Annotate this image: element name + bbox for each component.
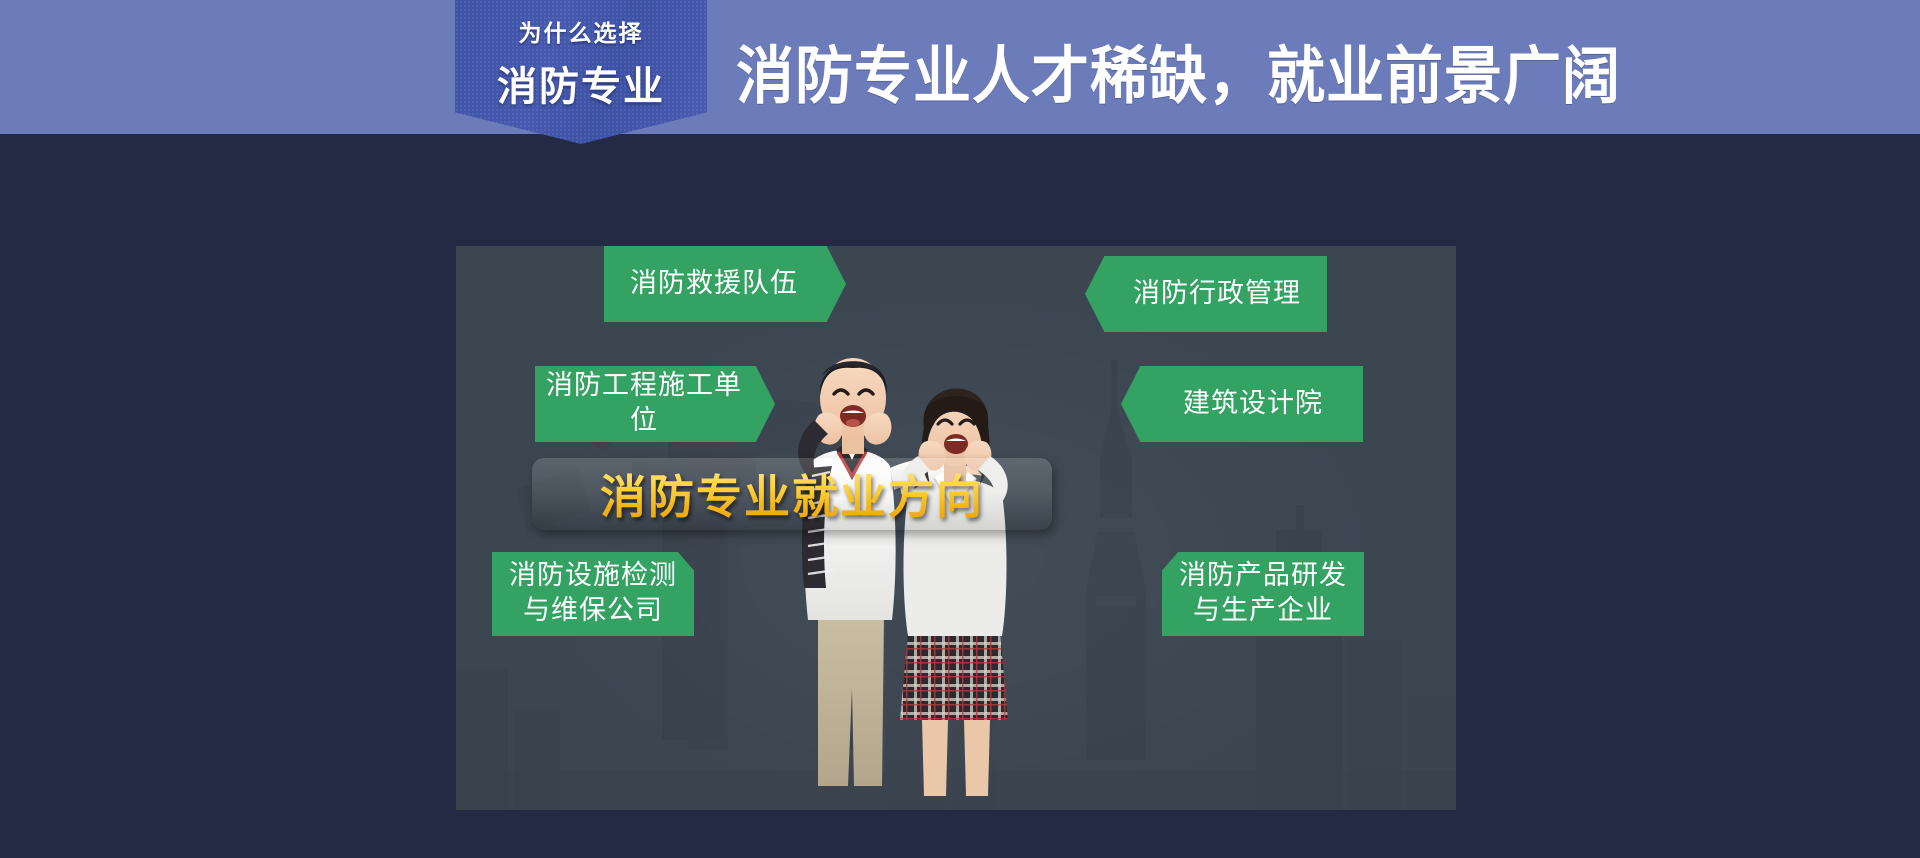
tag-label-line1: 消防设施检测 <box>509 560 677 591</box>
bottom-strip <box>0 810 1920 858</box>
tag-label: 消防救援队伍 <box>630 267 798 302</box>
center-banner-title: 消防专业就业方向 <box>532 462 1052 526</box>
tag-label: 消防产品研发 与生产企业 <box>1179 559 1347 628</box>
students-photo <box>756 316 1056 810</box>
tag-architectural-design-institute[interactable]: 建筑设计院 <box>1121 366 1363 442</box>
tag-label-line1: 消防产品研发 <box>1179 560 1347 591</box>
content-stage: 消防救援队伍 消防行政管理 消防工程施工单位 建筑设计院 消防设施检测 与维保公… <box>456 246 1456 810</box>
badge-title: 消防专业 <box>455 54 707 112</box>
tag-fire-product-rd-manufacturing[interactable]: 消防产品研发 与生产企业 <box>1162 552 1364 636</box>
header-bar: 消防专业人才稀缺，就业前景广阔 <box>0 0 1920 134</box>
badge-subtitle: 为什么选择 <box>455 14 707 48</box>
tag-label-line2: 与生产企业 <box>1193 595 1333 626</box>
badge-content: 为什么选择 消防专业 <box>455 0 707 112</box>
tag-label: 消防行政管理 <box>1133 277 1301 312</box>
tag-label-line2: 与维保公司 <box>523 595 663 626</box>
tag-fire-administration[interactable]: 消防行政管理 <box>1085 256 1327 332</box>
tag-fire-engineering-contractor[interactable]: 消防工程施工单位 <box>535 366 775 442</box>
tag-label: 建筑设计院 <box>1183 387 1323 422</box>
page-headline: 消防专业人才稀缺，就业前景广阔 <box>736 25 1621 116</box>
tag-label: 消防工程施工单位 <box>535 369 753 438</box>
tag-fire-rescue-team[interactable]: 消防救援队伍 <box>604 246 846 322</box>
tag-fire-facility-inspection-maintenance[interactable]: 消防设施检测 与维保公司 <box>492 552 694 636</box>
tag-label: 消防设施检测 与维保公司 <box>509 559 677 628</box>
